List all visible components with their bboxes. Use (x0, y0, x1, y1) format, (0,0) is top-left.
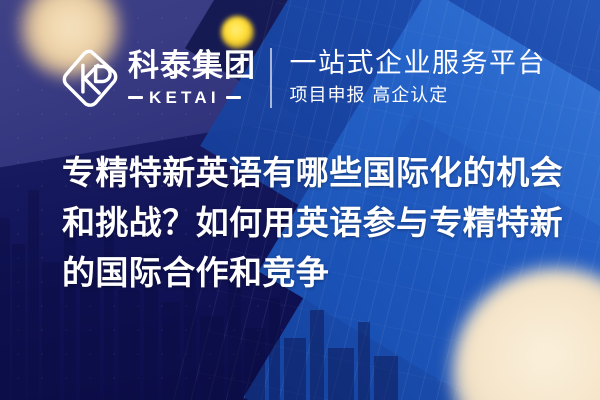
headline-line-3: 的国际合作和竞争 (62, 248, 562, 298)
dash-left-icon (128, 96, 143, 99)
slogan-main: 一站式企业服务平台 (290, 50, 547, 78)
company-name-en: KETAI (143, 89, 226, 106)
dash-right-icon (226, 96, 241, 99)
headline-line-1: 专精特新英语有哪些国际化的机会 (62, 148, 562, 198)
headline-line-2: 和挑战？如何用英语参与专精特新 (62, 198, 562, 248)
slogan-sub: 项目申报 高企认定 (290, 87, 547, 106)
company-name-en-row: KETAI (128, 89, 256, 106)
kp-monogram-icon (62, 48, 120, 108)
brand-text-block: 科泰集团 KETAI (128, 47, 256, 109)
company-name-cn: 科泰集团 (128, 51, 256, 82)
slogan-block: 一站式企业服务平台 项目申报 高企认定 (290, 46, 547, 110)
vertical-divider (270, 48, 272, 108)
promo-banner: 科泰集团 KETAI 一站式企业服务平台 项目申报 高企认定 专精特新英语有哪些… (0, 0, 600, 400)
headline: 专精特新英语有哪些国际化的机会 和挑战？如何用英语参与专精特新 的国际合作和竞争 (62, 148, 562, 298)
brand-header: 科泰集团 KETAI 一站式企业服务平台 项目申报 高企认定 (62, 44, 546, 112)
